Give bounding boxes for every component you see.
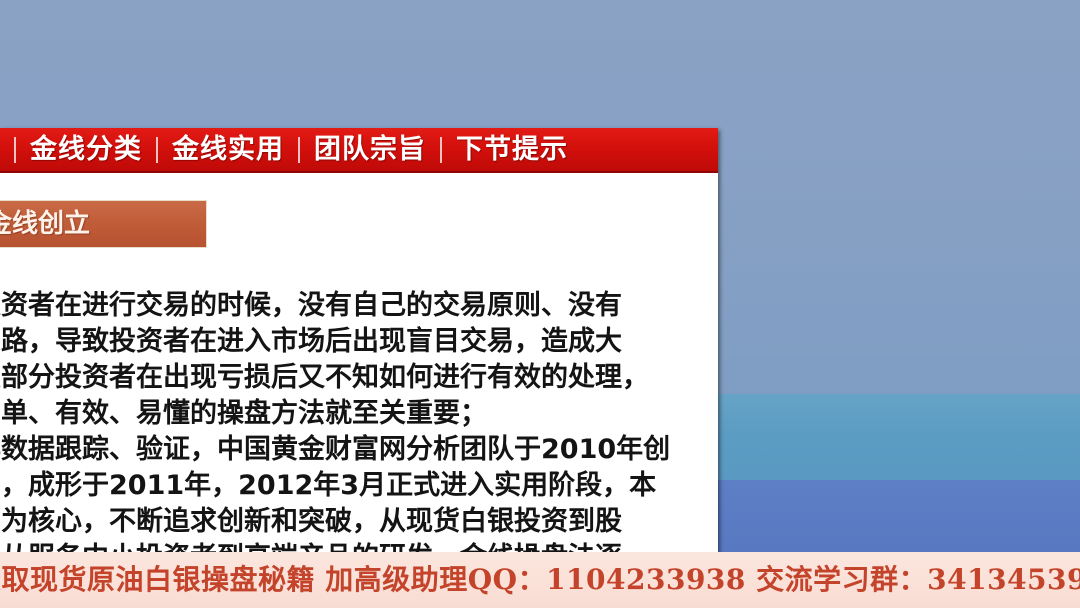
slide-panel: 创立 金线分类 金线实用 团队宗旨 下节提示 金线创立 投资者在进行交易的时候，…: [0, 128, 718, 552]
section-tab-label: 金线创立: [0, 211, 90, 237]
body-text-line: 法，成形于2011年，2012年3月正式进入实用阶段，本: [0, 468, 718, 504]
nav-item-jinxian-fenlei[interactable]: 金线分类: [16, 136, 156, 163]
slide-body-text: 投资者在进行交易的时候，没有自己的交易原则、没有 思路，导致投资者在进入市场后出…: [0, 288, 718, 552]
nav-item-jinxian-shiyong[interactable]: 金线实用: [158, 136, 298, 163]
promo-banner-text: 获取现货原油白银操盘秘籍 加高级助理QQ：1104233938 交流学习群：34…: [0, 566, 1080, 594]
nav-item-jinxian-chuangli[interactable]: 创立: [0, 136, 14, 163]
promo-banner: 获取现货原油白银操盘秘籍 加高级助理QQ：1104233938 交流学习群：34…: [0, 552, 1080, 608]
nav-item-xiajie-tishi[interactable]: 下节提示: [442, 136, 582, 163]
body-text-line: 思路，导致投资者在进入市场后出现盲目交易，造成大: [0, 324, 718, 360]
body-text-line: 投资者在进行交易的时候，没有自己的交易原则、没有: [0, 288, 718, 324]
section-tab-jinxian-chuangli[interactable]: 金线创立: [0, 200, 207, 248]
top-navigation-bar: 创立 金线分类 金线实用 团队宗旨 下节提示: [0, 128, 718, 173]
body-text-line: 简单、有效、易懂的操盘方法就至关重要；: [0, 396, 718, 432]
body-text-line: ，从服务中小投资者到高端产品的研发，金线操盘法逐: [0, 540, 718, 552]
nav-item-tuandui-zongzhi[interactable]: 团队宗旨: [300, 136, 440, 163]
body-text-line: 年数据跟踪、验证，中国黄金财富网分析团队于2010年创: [0, 432, 718, 468]
body-text-line: 大部分投资者在出现亏损后又不知如何进行有效的处理，: [0, 360, 718, 396]
screen-capture: 创立 金线分类 金线实用 团队宗旨 下节提示 金线创立 投资者在进行交易的时候，…: [0, 0, 1080, 608]
body-text-line: 者为核心，不断追求创新和突破，从现货白银投资到股: [0, 504, 718, 540]
